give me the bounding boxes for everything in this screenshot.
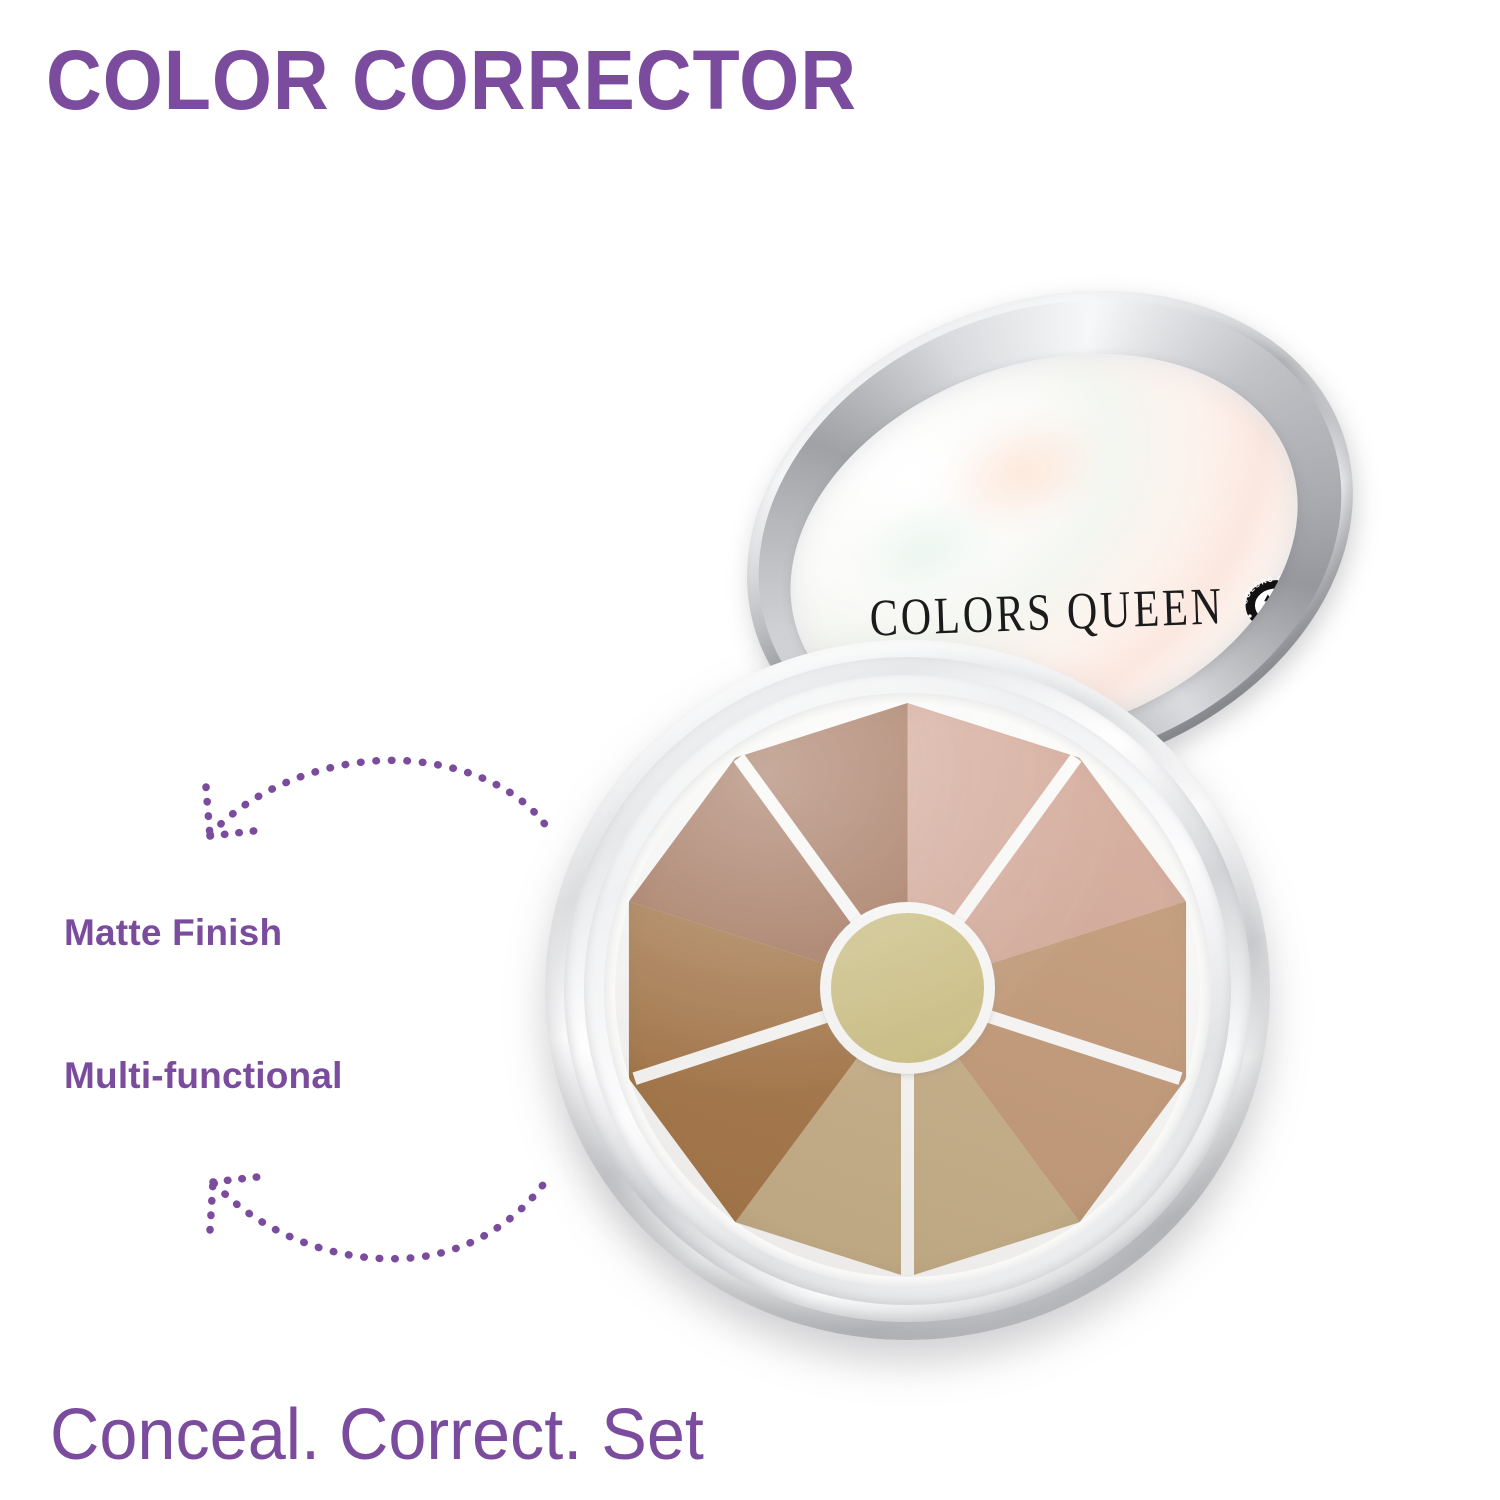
tagline: Conceal. Correct. Set xyxy=(50,1398,704,1474)
wheel-center-banana-yellow[interactable] xyxy=(820,902,996,1074)
brand-badge-icon: COLORS QUEEN ® xyxy=(1233,566,1322,645)
registered-mark: ® xyxy=(1307,589,1315,600)
product-photo: COLORS QUEEN xyxy=(0,0,1500,1500)
feature-label-matte-finish: Matte Finish xyxy=(64,912,282,954)
compact-base xyxy=(545,640,1270,1340)
feature-label-multi-functional: Multi-functional xyxy=(64,1055,343,1097)
product-marketing-image: COLOR CORRECTOR COLORS QUEEN xyxy=(0,0,1500,1500)
color-wheel xyxy=(615,703,1201,1277)
